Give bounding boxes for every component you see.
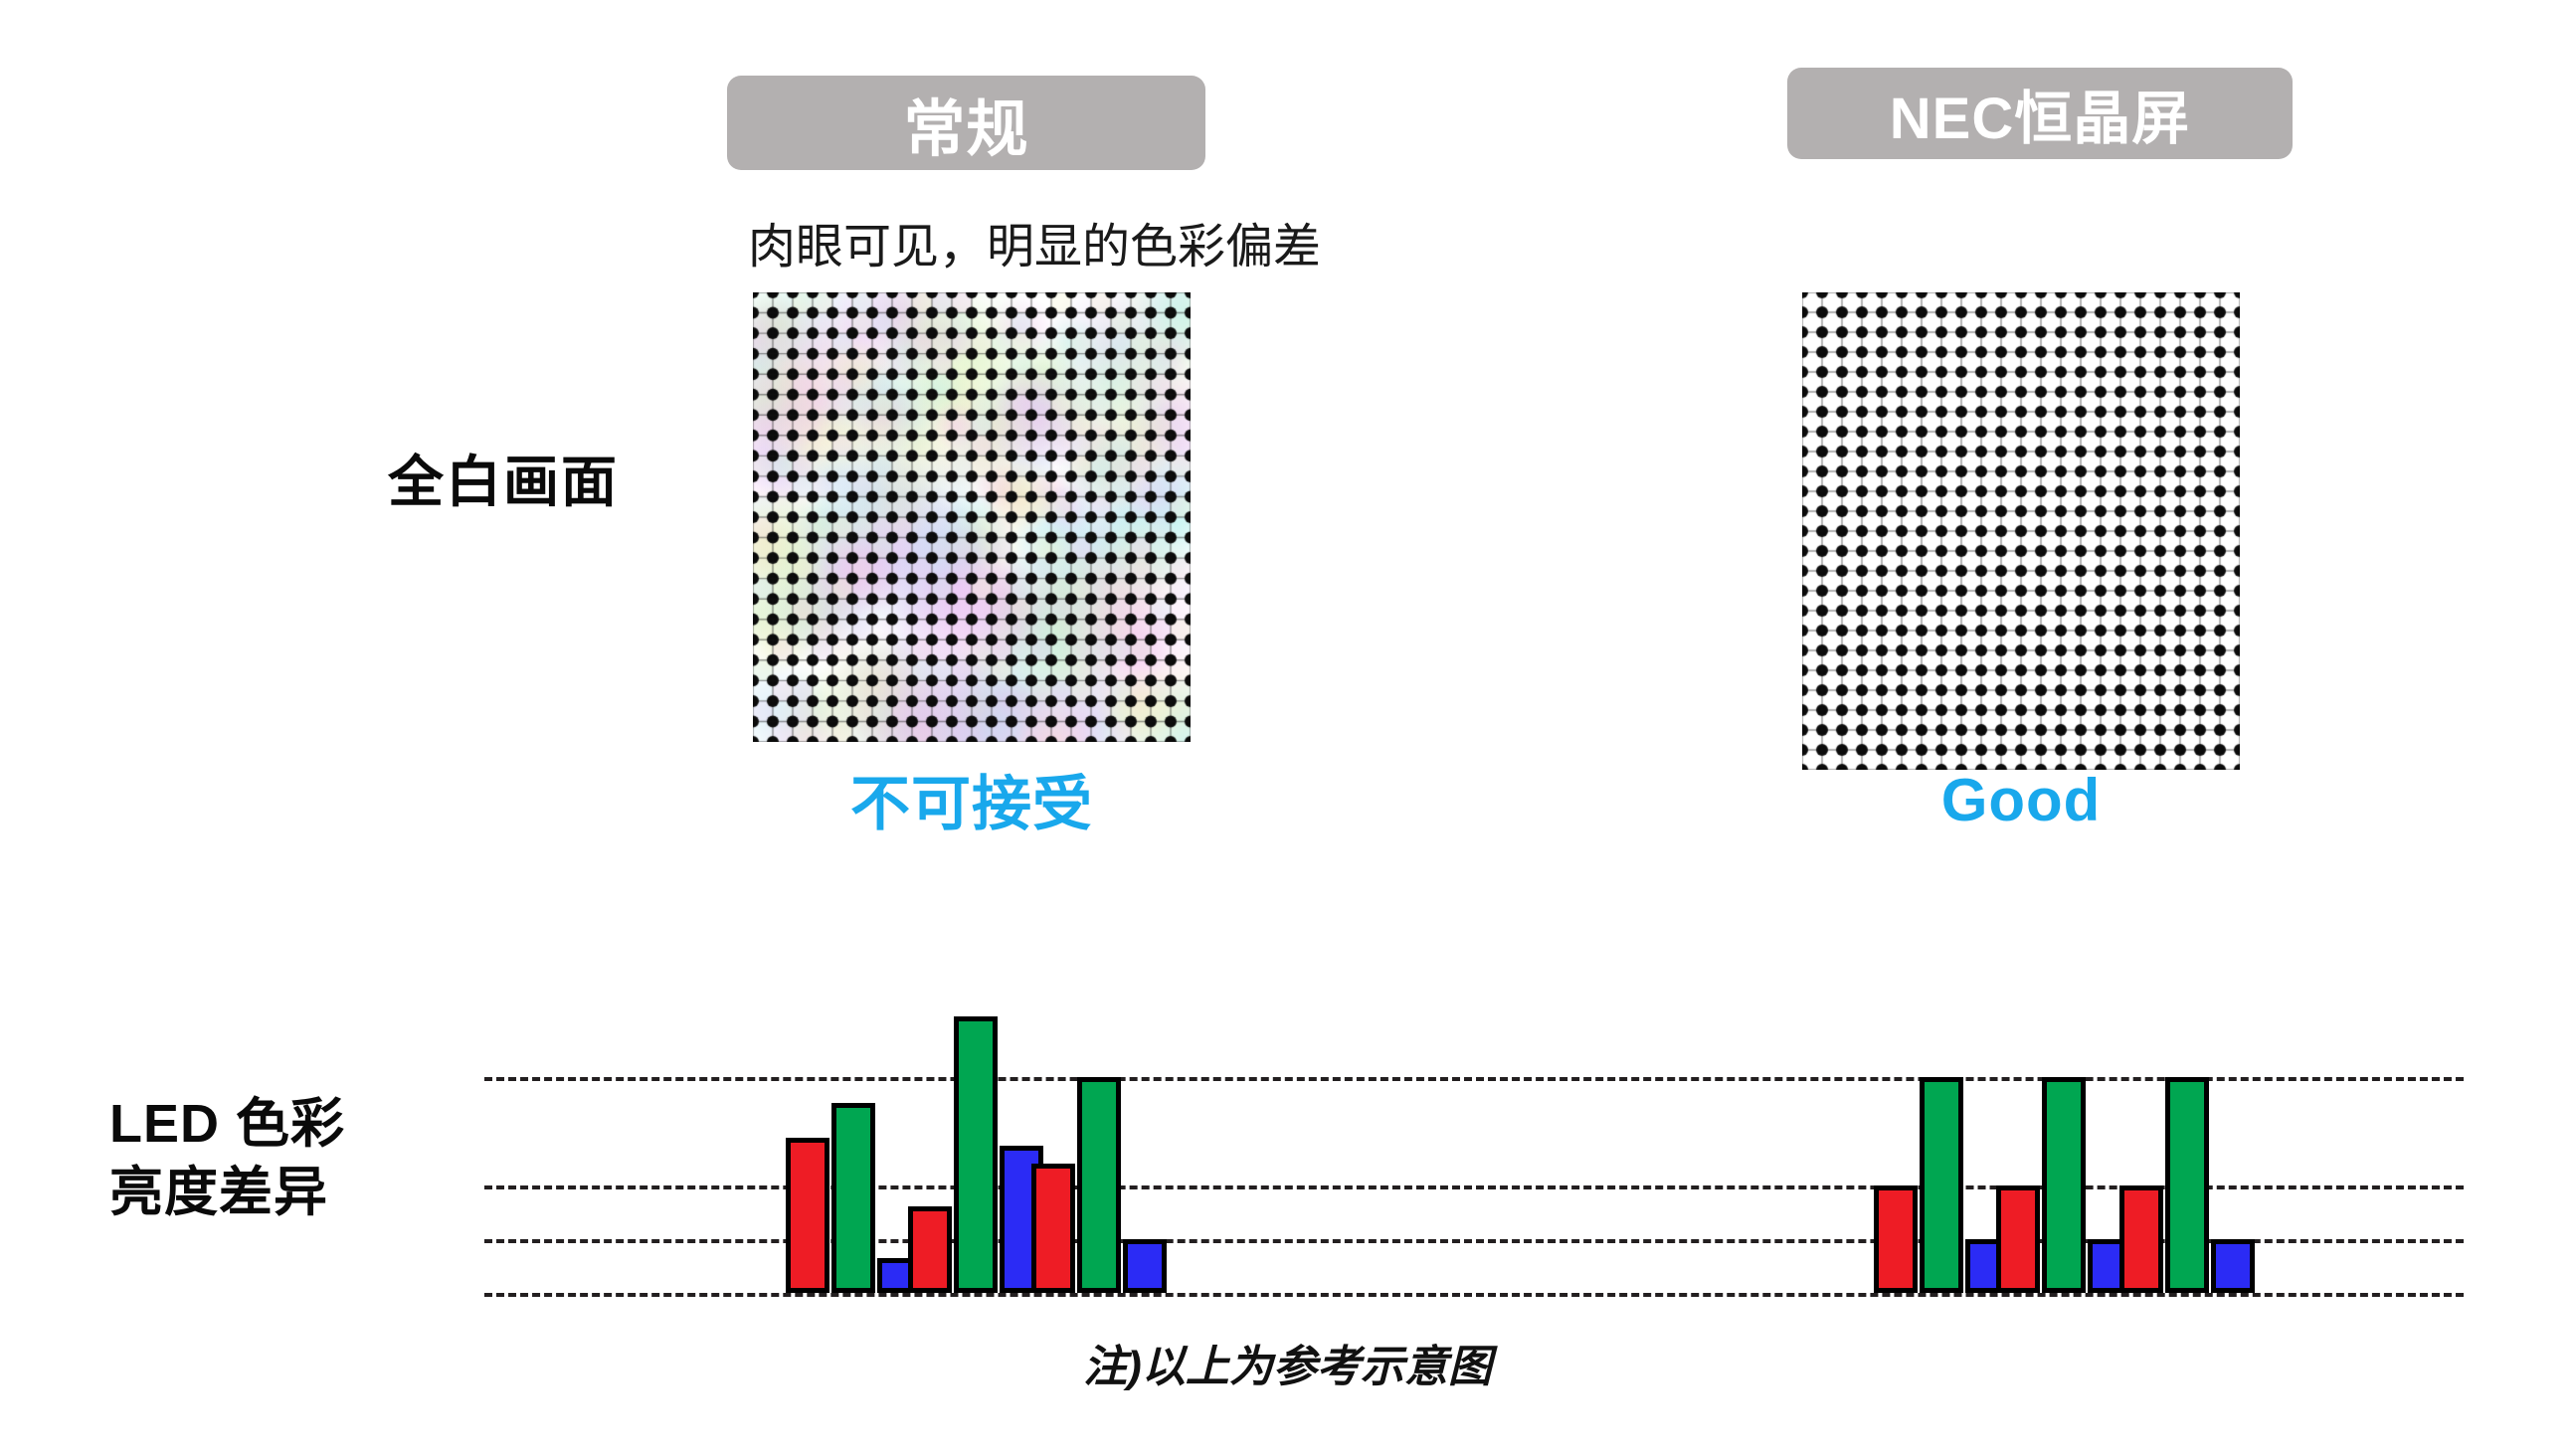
bar-nec-led-variation-G2-B	[2088, 1239, 2131, 1293]
bar-conventional-led-variation-G2-B	[1000, 1146, 1043, 1293]
chart-gridline-50	[484, 1185, 2464, 1189]
verdict-nec: Good	[1802, 766, 2240, 834]
bar-conventional-led-variation-G3-R	[1031, 1164, 1075, 1293]
bar-conventional-led-variation-G3-G	[1077, 1077, 1121, 1293]
bar-conventional-led-variation-G2-G	[954, 1016, 998, 1293]
chart-gridline-100	[484, 1077, 2464, 1081]
row-label-led-variation: LED 色彩 亮度差异	[109, 1090, 345, 1227]
footnote: 注)以上为参考示意图	[0, 1331, 2575, 1394]
bar-conventional-led-variation-G1-B	[877, 1258, 921, 1293]
led-panel-nec	[1802, 292, 2240, 770]
row-label-white-screen: 全白画面	[388, 438, 619, 518]
bar-conventional-led-variation-G2-R	[908, 1206, 952, 1293]
led-panel-conventional-canvas	[753, 292, 1191, 742]
chart-gridline-0	[484, 1293, 2464, 1297]
badge-nec-label: NEC恒晶屏	[1890, 72, 2190, 155]
bar-nec-led-variation-G1-R	[1874, 1185, 1918, 1294]
led-panel-conventional	[753, 292, 1191, 742]
left-column-subtitle: 肉眼可见，明显的色彩偏差	[666, 207, 1402, 276]
bar-nec-led-variation-G3-G	[2165, 1077, 2209, 1293]
bar-nec-led-variation-G2-R	[1996, 1185, 2040, 1294]
verdict-conventional: 不可接受	[753, 756, 1191, 842]
led-panel-nec-canvas	[1802, 292, 2240, 770]
bar-conventional-led-variation-G3-B	[1123, 1239, 1167, 1293]
bar-conventional-led-variation-G1-G	[831, 1103, 875, 1293]
badge-nec: NEC恒晶屏	[1787, 68, 2293, 159]
bar-nec-led-variation-G3-B	[2211, 1239, 2255, 1293]
bar-nec-led-variation-G1-G	[1920, 1077, 1963, 1293]
bar-nec-led-variation-G3-R	[2119, 1185, 2163, 1294]
bar-conventional-led-variation-G1-R	[786, 1138, 829, 1293]
row-label-led-line2: 亮度差异	[109, 1159, 345, 1227]
bar-nec-led-variation-G2-G	[2042, 1077, 2086, 1293]
badge-conventional-label: 常规	[903, 79, 1028, 168]
bar-nec-led-variation-G1-B	[1965, 1239, 2009, 1293]
chart-gridline-25	[484, 1239, 2464, 1243]
badge-conventional: 常规	[727, 76, 1205, 170]
row-label-led-line1: LED 色彩	[109, 1090, 345, 1159]
